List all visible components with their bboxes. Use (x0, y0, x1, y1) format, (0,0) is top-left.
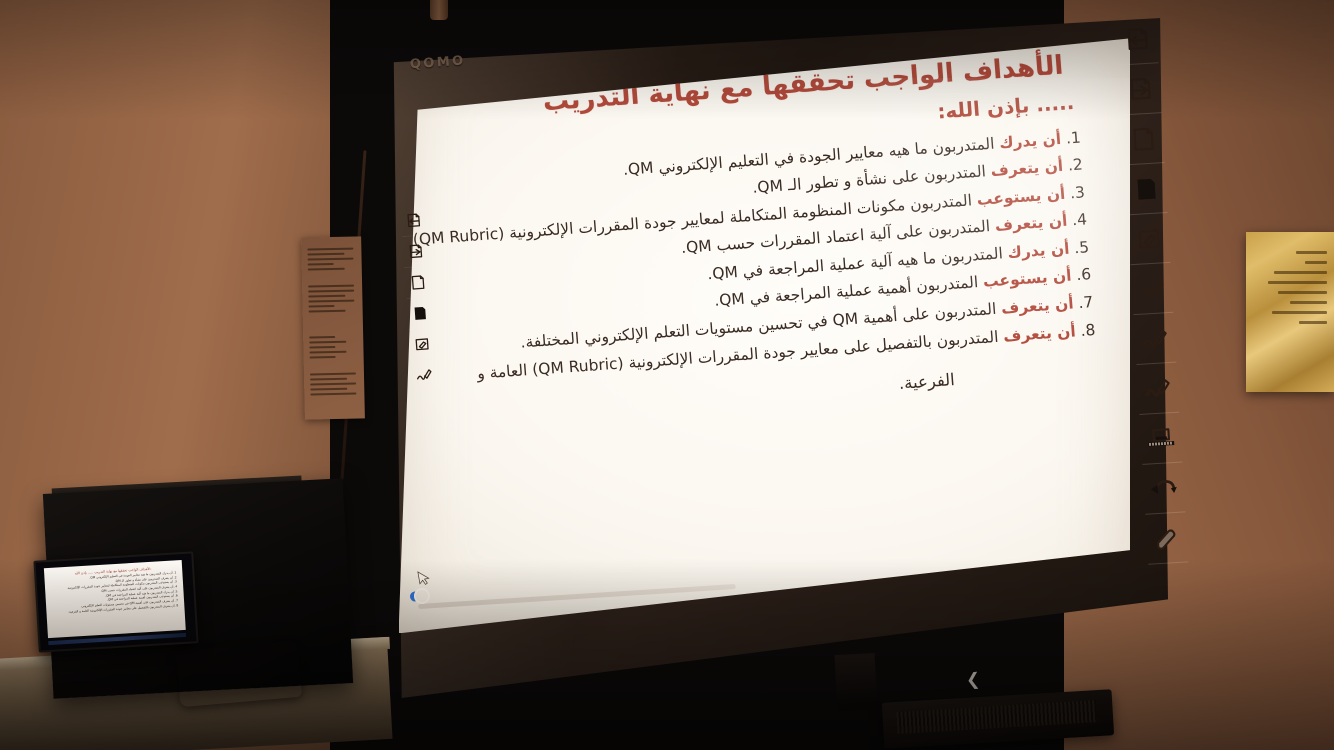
filled-page-icon[interactable] (1125, 163, 1168, 215)
filled-page-icon[interactable] (406, 297, 433, 330)
classroom-scene: QOMO الأهداف الواجب تحققها مع نهاية التد… (0, 0, 1334, 750)
item-verb: أن يستوعب (982, 267, 1072, 291)
wall-poster-golden (1246, 232, 1334, 392)
page-back-icon[interactable] (400, 204, 427, 237)
pen-thin-icon[interactable] (411, 359, 438, 392)
wall-notice-paper (301, 236, 365, 419)
item-number: 7. (1077, 293, 1093, 312)
undo-icon[interactable] (1142, 463, 1185, 515)
item-verb: أن يتعرف (994, 212, 1068, 235)
eraser-box-icon[interactable] (1128, 213, 1171, 265)
item-verb: أن يتعرف (990, 157, 1064, 180)
item-verb: أن يتعرف (1000, 295, 1074, 318)
pen-medium-icon[interactable] (1134, 313, 1177, 365)
item-number: 1. (1065, 129, 1081, 148)
pen-thick-icon[interactable] (1136, 363, 1179, 415)
keyboard-icon[interactable] (1139, 413, 1182, 465)
item-number: 8. (1079, 321, 1095, 340)
page-forward-icon[interactable] (402, 235, 429, 268)
item-verb: أن يتعرف (1002, 322, 1076, 345)
item-number: 4. (1071, 211, 1087, 230)
pen-thin-icon[interactable] (1131, 263, 1174, 315)
scene-bottom-shading (0, 560, 1334, 750)
item-number: 6. (1075, 266, 1091, 285)
objectives-list: 1. أن يدرك المتدربون ما هيه معايير الجود… (420, 126, 1102, 389)
blank-page-icon[interactable] (1122, 113, 1165, 165)
item-verb: أن يدرك (998, 130, 1061, 152)
item-number: 3. (1069, 184, 1085, 203)
eraser-icon[interactable] (1145, 512, 1188, 564)
projection-screen[interactable]: الأهداف الواجب تحققها مع نهاية التدريب .… (399, 38, 1131, 633)
item-number: 2. (1067, 156, 1083, 175)
item-number: 5. (1073, 238, 1089, 257)
scene-top-shading (0, 0, 1334, 120)
blank-page-icon[interactable] (404, 266, 431, 299)
item-verb: أن يدرك (1007, 240, 1070, 262)
eraser-box-icon[interactable] (409, 328, 436, 361)
item-verb: أن يستوعب (976, 185, 1066, 209)
